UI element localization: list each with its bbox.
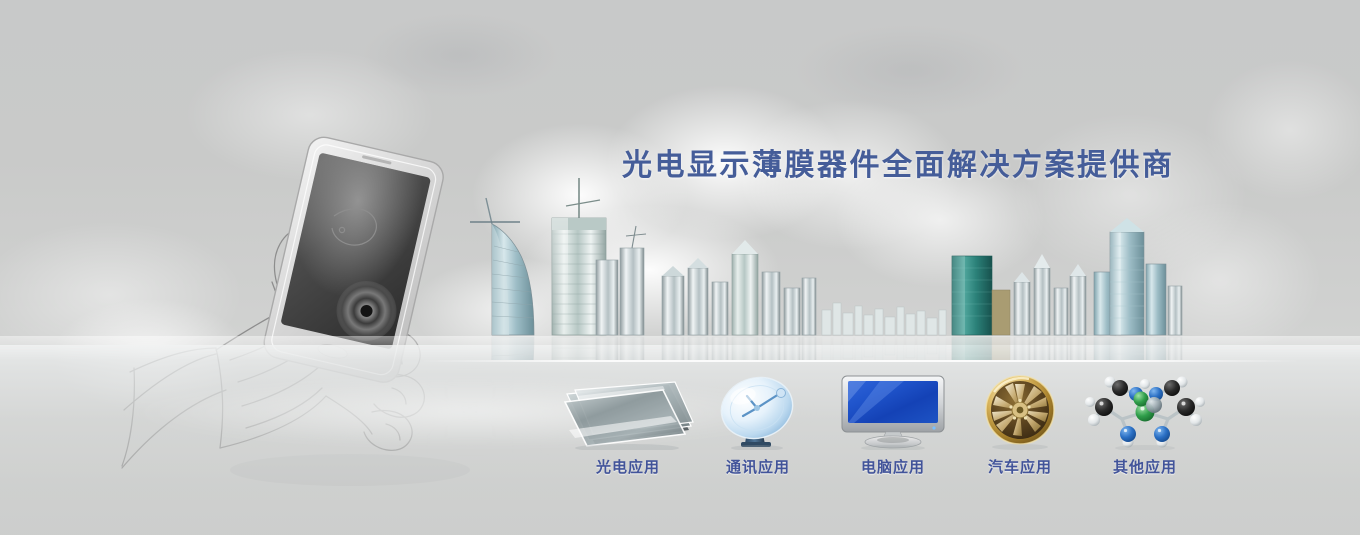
application-icon-row: 光电应用 bbox=[0, 405, 1360, 535]
horizon-line bbox=[420, 360, 1300, 362]
application-item-communication[interactable]: 通讯应用 bbox=[683, 372, 833, 477]
city-skyline bbox=[0, 160, 1360, 360]
hero-banner: 光电显示薄膜器件全面解决方案提供商 bbox=[0, 0, 1360, 535]
application-label-communication: 通讯应用 bbox=[683, 456, 833, 477]
satellite-dish-icon bbox=[683, 372, 833, 450]
page-title: 光电显示薄膜器件全面解决方案提供商 bbox=[622, 140, 1175, 184]
application-item-optoelectronics[interactable]: 光电应用 bbox=[553, 372, 703, 477]
glass-panels-icon bbox=[553, 372, 703, 450]
application-item-other[interactable]: 其他应用 bbox=[1070, 372, 1220, 477]
application-label-other: 其他应用 bbox=[1070, 456, 1220, 477]
molecule-icon bbox=[1070, 372, 1220, 450]
application-label-optoelectronics: 光电应用 bbox=[553, 456, 703, 477]
